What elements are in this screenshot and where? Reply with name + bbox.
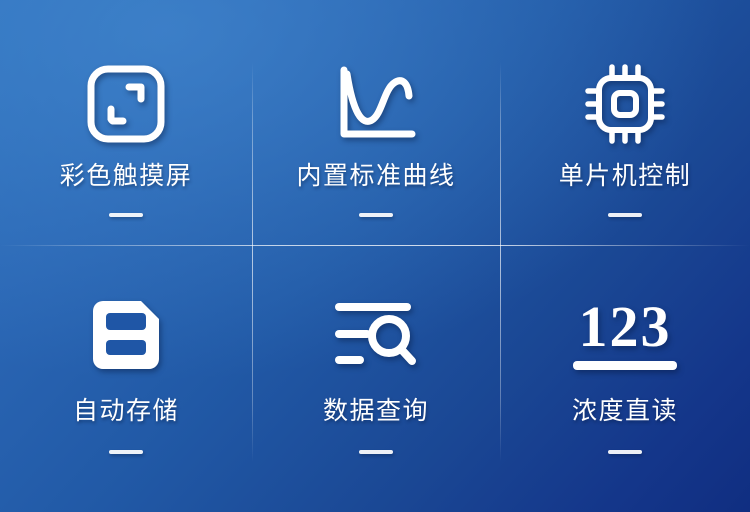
feature-cell-microchip[interactable]: 单片机控制 (500, 0, 750, 245)
feature-cell-data-query[interactable]: 数据查询 (252, 245, 500, 512)
standard-curve-chart-icon (334, 58, 418, 150)
feature-underline-dash (359, 213, 393, 217)
feature-cell-direct-reading[interactable]: 123 浓度直读 (500, 245, 750, 512)
feature-underline-dash (608, 450, 642, 454)
feature-cell-touch-screen[interactable]: 彩色触摸屏 (0, 0, 252, 245)
feature-label: 彩色触摸屏 (60, 164, 193, 189)
feature-label: 自动存储 (73, 399, 179, 424)
numeric-123-text: 123 (579, 300, 672, 353)
floppy-disk-save-icon (89, 289, 163, 381)
feature-grid-banner: 彩色触摸屏 内置标准曲线 (0, 0, 750, 512)
numeric-123-underline-bar (573, 361, 677, 370)
feature-underline-dash (109, 450, 143, 454)
feature-label: 浓度直读 (572, 399, 678, 424)
feature-underline-dash (608, 213, 642, 217)
numeric-123-icon: 123 (573, 289, 677, 381)
list-search-icon (333, 289, 419, 381)
feature-label: 数据查询 (323, 399, 429, 424)
feature-label: 内置标准曲线 (296, 164, 455, 189)
feature-underline-dash (109, 213, 143, 217)
feature-underline-dash (359, 450, 393, 454)
feature-cell-standard-curve[interactable]: 内置标准曲线 (252, 0, 500, 245)
feature-cell-auto-save[interactable]: 自动存储 (0, 245, 252, 512)
touch-screen-icon (85, 58, 167, 150)
feature-label: 单片机控制 (559, 164, 692, 189)
features-grid: 彩色触摸屏 内置标准曲线 (0, 0, 750, 512)
microchip-icon (582, 58, 668, 150)
